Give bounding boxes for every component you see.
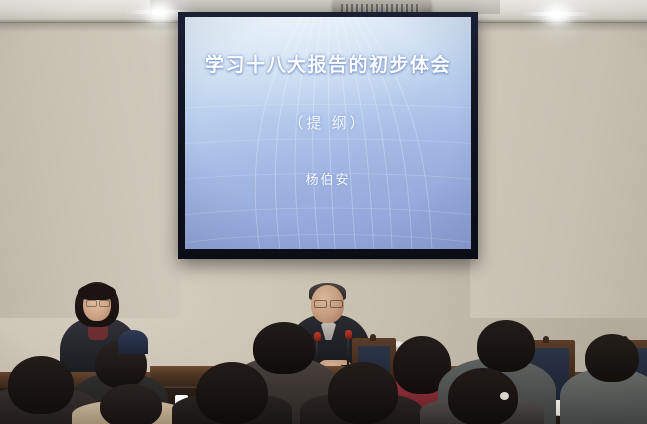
slide-author: 杨伯安 bbox=[185, 169, 471, 188]
microphone-head bbox=[314, 332, 321, 341]
audience-member-body bbox=[118, 330, 148, 354]
slide-subtitle: （提 纲） bbox=[185, 112, 471, 133]
audience-member-head bbox=[100, 384, 162, 424]
audience-member-head bbox=[196, 362, 268, 424]
glasses-icon bbox=[86, 300, 97, 307]
audience-member-head bbox=[8, 356, 74, 414]
chair-knob bbox=[543, 336, 549, 343]
glasses-icon bbox=[99, 300, 110, 307]
slide-content: 学习十八大报告的初步体会 （提 纲） 杨伯安 bbox=[185, 17, 471, 249]
audience-member-head bbox=[253, 322, 315, 374]
conference-room-photo: 学习十八大报告的初步体会 （提 纲） 杨伯安 bbox=[0, 0, 647, 424]
projection-screen: 学习十八大报告的初步体会 （提 纲） 杨伯安 bbox=[185, 17, 471, 249]
hair-clip bbox=[500, 392, 509, 400]
right-wall bbox=[470, 18, 647, 318]
slide-title: 学习十八大报告的初步体会 bbox=[185, 50, 471, 77]
glasses-icon bbox=[330, 300, 343, 308]
audience-member-head bbox=[477, 320, 535, 372]
chair-knob bbox=[370, 334, 376, 341]
audience-member-head bbox=[585, 334, 639, 382]
glasses-icon bbox=[314, 300, 327, 308]
projection-screen-frame: 学习十八大报告的初步体会 （提 纲） 杨伯安 bbox=[178, 12, 478, 259]
projector-vents bbox=[341, 4, 421, 12]
panelist-woman-fringe bbox=[78, 284, 116, 300]
audience-member-head bbox=[328, 362, 398, 424]
left-wall bbox=[0, 18, 180, 318]
microphone-head bbox=[345, 330, 352, 339]
